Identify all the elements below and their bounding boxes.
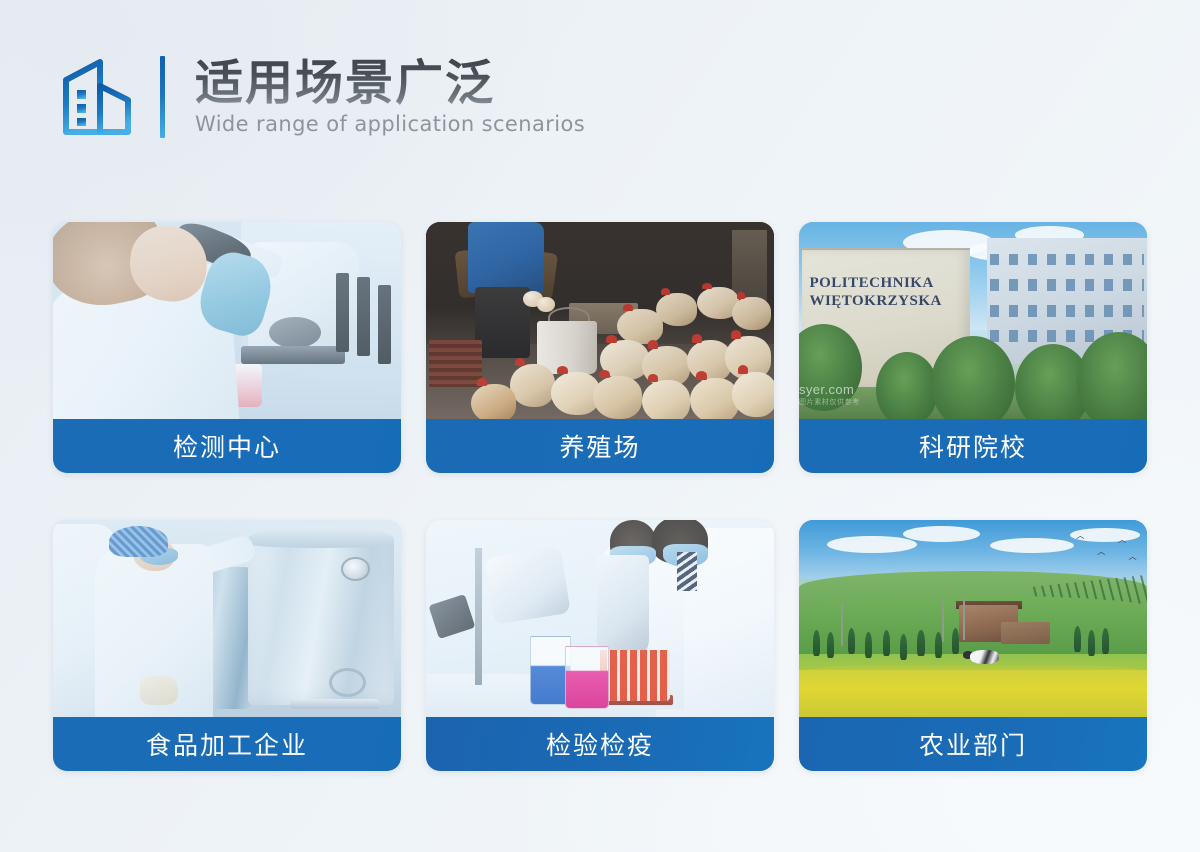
scenario-card-label: 检验检疫 [426, 717, 774, 771]
scenario-card-label: 科研院校 [799, 419, 1147, 473]
scenario-card-grid: 检测中心 [53, 222, 1147, 771]
scenario-card-label: 养殖场 [426, 419, 774, 473]
application-scenarios-page: 适用场景广泛 Wide range of application scenari… [0, 0, 1200, 852]
microscope-lab-photo [53, 222, 401, 419]
header-divider [160, 56, 165, 138]
university-building-photo: POLITECHNIKA WIĘTOKRZYSKA syer.com 图片素材仅… [799, 222, 1147, 419]
page-subtitle: Wide range of application scenarios [195, 112, 585, 137]
scenario-card-label: 检测中心 [53, 419, 401, 473]
section-header: 适用场景广泛 Wide range of application scenari… [60, 56, 585, 138]
scenario-card-research-institutes[interactable]: POLITECHNIKA WIĘTOKRZYSKA syer.com 图片素材仅… [799, 222, 1147, 473]
scenario-card-food-processing[interactable]: 食品加工企业 [53, 520, 401, 771]
scenario-card-label: 食品加工企业 [53, 717, 401, 771]
building-icon [60, 56, 136, 138]
poultry-farm-photo [426, 222, 774, 419]
agriculture-landscape-photo: ︿ ︿ ︿ ︿ [799, 520, 1147, 717]
scenario-card-detection-center[interactable]: 检测中心 [53, 222, 401, 473]
page-title: 适用场景广泛 [195, 57, 585, 110]
scenario-card-label: 农业部门 [799, 717, 1147, 771]
header-titles: 适用场景广泛 Wide range of application scenari… [195, 57, 585, 137]
scenario-card-agriculture-department[interactable]: ︿ ︿ ︿ ︿ 农业部门 [799, 520, 1147, 771]
scenario-card-breeding-farm[interactable]: 养殖场 [426, 222, 774, 473]
inspection-lab-photo [426, 520, 774, 717]
scenario-card-inspection-quarantine[interactable]: 检验检疫 [426, 520, 774, 771]
food-processing-photo [53, 520, 401, 717]
